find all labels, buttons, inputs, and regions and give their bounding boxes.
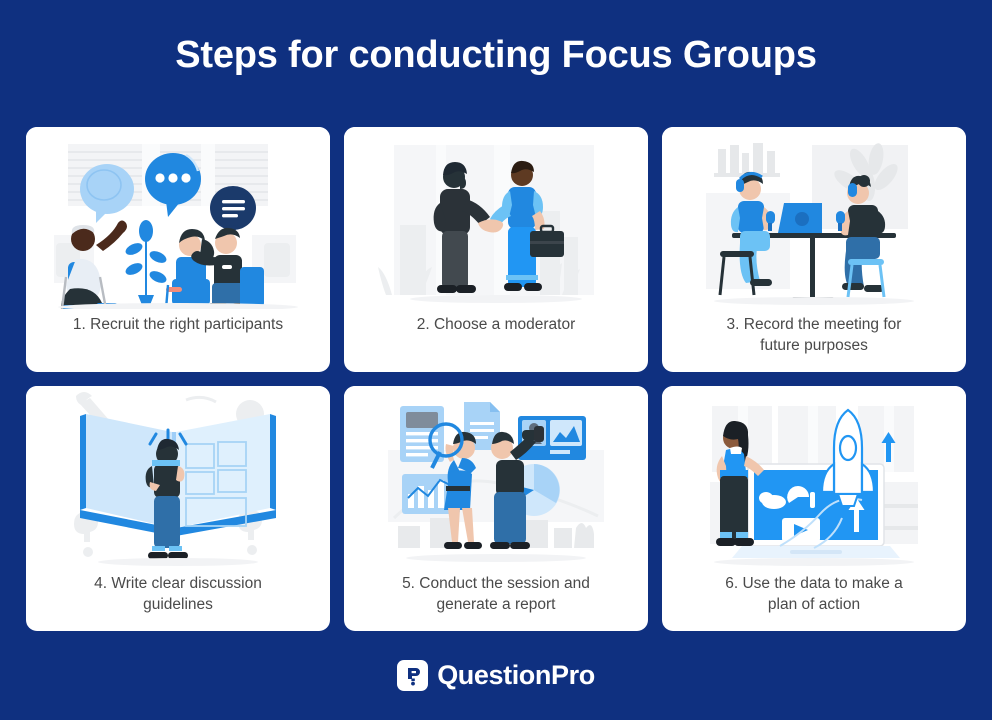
step-caption-3: 3. Record the meeting for future purpose… (662, 309, 966, 372)
caption-line: 6. Use the data to make a (725, 574, 903, 595)
step-card-5: 5. Conduct the session and generate a re… (344, 386, 648, 631)
caption-line: 1. Recruit the right participants (73, 315, 283, 336)
caption-line: 3. Record the meeting for (727, 315, 902, 336)
infographic-page: Steps for conducting Focus Groups (0, 0, 992, 720)
laptop (732, 464, 900, 558)
caption-line: 2. Choose a moderator (417, 315, 576, 336)
step-card-2: 2. Choose a moderator (344, 127, 648, 372)
step-card-1: 1. Recruit the right participants (26, 127, 330, 372)
step-card-6: 6. Use the data to make a plan of action (662, 386, 966, 631)
step-caption-6: 6. Use the data to make a plan of action (662, 568, 966, 631)
illustration-recording (662, 127, 966, 309)
caption-line: future purposes (727, 336, 902, 357)
caption-line: guidelines (94, 595, 262, 616)
brand-footer: QuestionPro (0, 660, 992, 691)
illustration-focus-group (26, 127, 330, 309)
caption-line: generate a report (402, 595, 590, 616)
step-caption-2: 2. Choose a moderator (344, 309, 648, 372)
steps-grid: 1. Recruit the right participants (26, 127, 966, 631)
caption-line: 5. Conduct the session and (402, 574, 590, 595)
step-caption-1: 1. Recruit the right participants (26, 309, 330, 372)
illustration-analysis (344, 386, 648, 568)
step-card-4: 4. Write clear discussion guidelines (26, 386, 330, 631)
caption-line: plan of action (725, 595, 903, 616)
page-title: Steps for conducting Focus Groups (0, 34, 992, 77)
step-caption-5: 5. Conduct the session and generate a re… (344, 568, 648, 631)
caption-line: 4. Write clear discussion (94, 574, 262, 595)
step-card-3: 3. Record the meeting for future purpose… (662, 127, 966, 372)
questionpro-logo-icon (397, 660, 428, 691)
illustration-open-book (26, 386, 330, 568)
step-caption-4: 4. Write clear discussion guidelines (26, 568, 330, 631)
illustration-rocket-launch (662, 386, 966, 568)
brand-name: QuestionPro (437, 660, 595, 691)
illustration-handshake (344, 127, 648, 309)
